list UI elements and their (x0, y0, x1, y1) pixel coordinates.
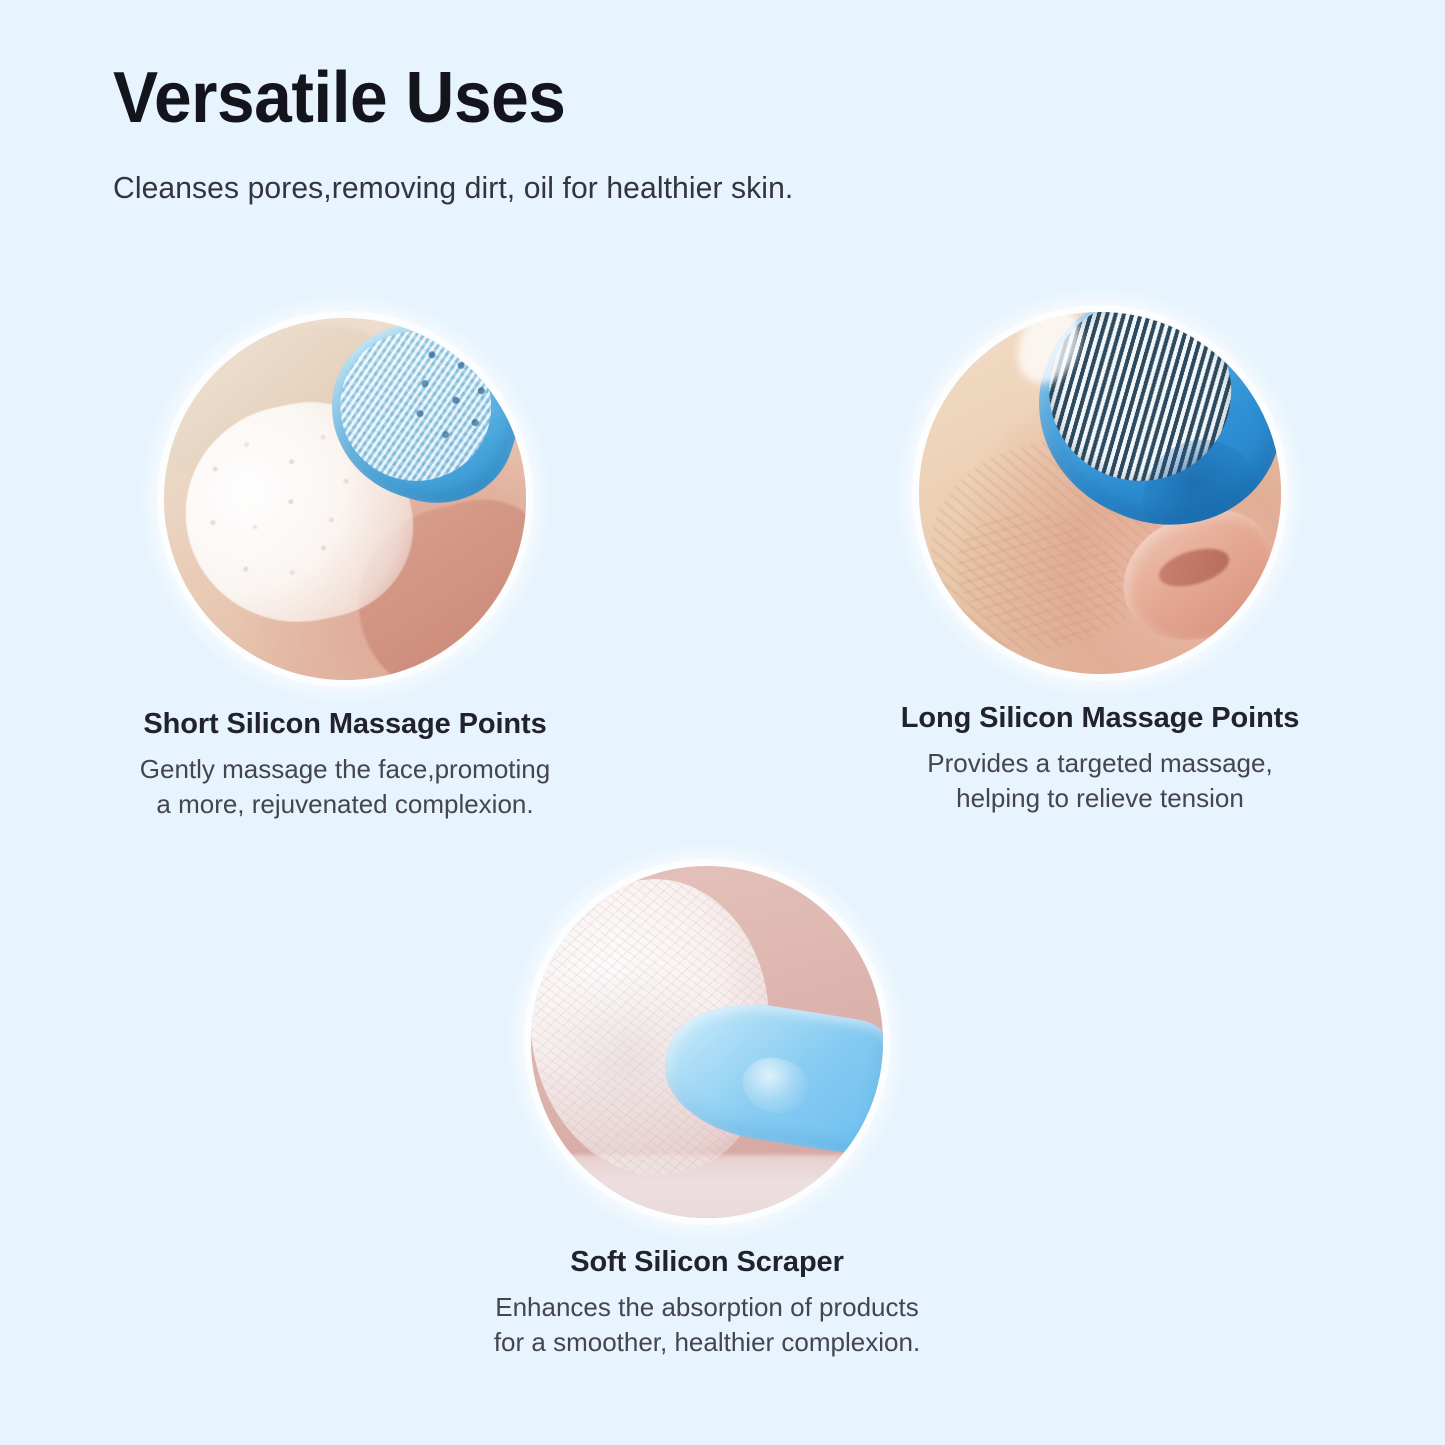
feature-2-image-wrap (919, 312, 1281, 674)
feature-long-silicon-massage-points: Long Silicon Massage Points Provides a t… (810, 312, 1390, 816)
scraper-tip-highlight (736, 1050, 813, 1119)
feature-soft-silicon-scraper: Soft Silicon Scraper Enhances the absorp… (417, 866, 997, 1360)
feature-short-silicon-massage-points: Short Silicon Massage Points Gently mass… (55, 318, 635, 822)
page-subtitle: Cleanses pores,removing dirt, oil for he… (113, 134, 1277, 206)
infographic-page: Versatile Uses Cleanses pores,removing d… (0, 0, 1445, 1445)
feature-1-body: Gently massage the face,promoting a more… (55, 742, 635, 822)
feature-2-caption: Long Silicon Massage Points Provides a t… (810, 674, 1390, 816)
feature-1-photo (164, 318, 526, 680)
feature-3-photo (531, 866, 883, 1218)
feature-1-title: Short Silicon Massage Points (55, 706, 635, 742)
feature-1-image-wrap (164, 318, 526, 680)
feature-1-caption: Short Silicon Massage Points Gently mass… (55, 680, 635, 822)
feature-3-image-wrap (531, 866, 883, 1218)
lower-skin-band (531, 1155, 883, 1218)
feature-3-body: Enhances the absorption of products for … (417, 1280, 997, 1360)
feature-3-title: Soft Silicon Scraper (417, 1244, 997, 1280)
feature-3-caption: Soft Silicon Scraper Enhances the absorp… (417, 1218, 997, 1360)
header: Versatile Uses Cleanses pores,removing d… (113, 62, 1313, 206)
feature-2-photo (919, 312, 1281, 674)
feature-2-title: Long Silicon Massage Points (810, 700, 1390, 736)
page-title: Versatile Uses (113, 62, 1241, 134)
feature-2-body: Provides a targeted massage, helping to … (810, 736, 1390, 816)
